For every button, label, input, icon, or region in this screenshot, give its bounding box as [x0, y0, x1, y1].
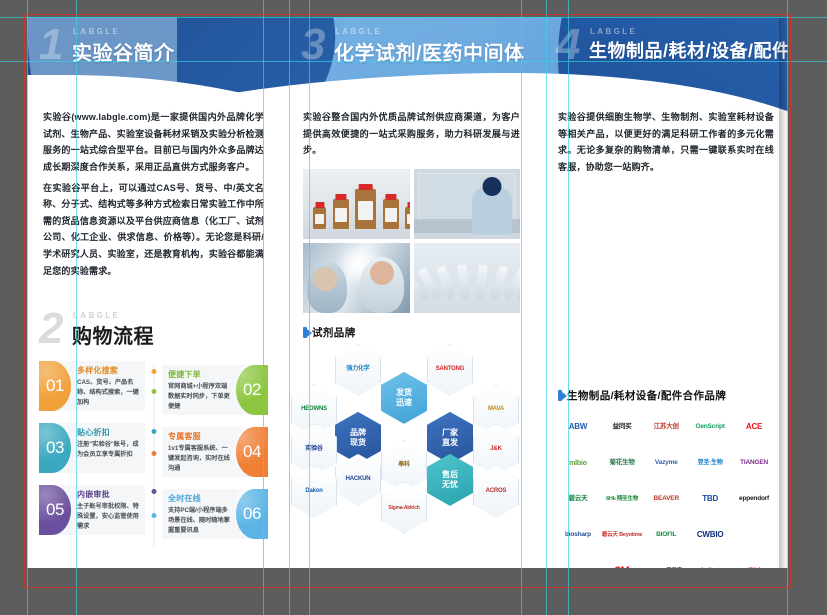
section-2-eyebrow: LABGLE	[73, 311, 120, 320]
section-1-paragraph-1: 实验谷(www.labgle.com)是一家提供国内外品牌化学试剂、生物产品、实…	[43, 109, 264, 176]
reagent-brand-hex-cluster: 强力化学 SANTONG HEOWNS 发货 迅速 MAVA 品牌 现货 厂家 …	[299, 344, 524, 519]
bio-brand-heading: 生物制品/耗材设备/配件合作品牌	[558, 388, 774, 403]
partner-logo: 翌圣·生物	[690, 453, 730, 475]
flow-step-card[interactable]: 06 全时在线 支持PC端/小程序端多场景在线、随时随地掌握重要讯息	[162, 489, 268, 539]
reagent-brand-heading: 试剂品牌	[303, 325, 520, 340]
partner-logo: eppendorf	[734, 489, 774, 511]
partner-logo: biosharp	[558, 525, 598, 547]
bio-partner-logo-grid: ABW 益同买 江苏大创 GenScript ACE mlbio 菊花生物 Va…	[558, 417, 774, 568]
fume-hood-photo	[414, 169, 521, 239]
section-3-paragraph: 实验谷整合国内外优质品牌试剂供应商渠道，为客户提供高效便捷的一站式采购服务，助力…	[303, 109, 520, 159]
partner-logo: Vazyme	[646, 453, 686, 475]
hex-value: 发货 迅速	[381, 372, 427, 424]
section-1-eyebrow: LABGLE	[73, 27, 120, 36]
partner-logo: 碧云天 Beyotime	[602, 525, 642, 547]
flow-dot	[151, 429, 156, 434]
partner-logo	[734, 525, 774, 547]
flow-step-title: 专属客服	[168, 431, 231, 442]
flow-step-desc: 支持PC端/小程序端多场景在线、随时随地掌握重要讯息	[168, 506, 231, 535]
flow-step-card[interactable]: 03 贴心折扣 注册"实验谷"账号，成为会员立享专属折扣	[39, 423, 145, 473]
section-3-heading: 3 LABGLE 化学试剂/医药中间体	[289, 17, 534, 75]
flow-dot	[151, 389, 156, 394]
flow-step-card[interactable]: 05 内嵌审批 主子账号审批权限、特殊设置，安心监管使用需求	[39, 485, 145, 535]
flow-step-number: 06	[236, 489, 268, 539]
hex-brand-logo: ACROS	[473, 466, 519, 518]
section-1-number: 1	[39, 23, 61, 67]
flow-step-desc: 官网商城+小程序双端数据实时同步，下单更便捷	[168, 382, 231, 411]
section-3-body: 实验谷整合国内外优质品牌试剂供应商渠道，为客户提供高效便捷的一站式采购服务，助力…	[289, 109, 534, 159]
flow-step-number: 01	[39, 361, 71, 411]
partner-logo: BEAVER	[646, 489, 686, 511]
partner-logo: TBD	[690, 489, 730, 511]
flow-step-card[interactable]: 02 便捷下单 官网商城+小程序双端数据实时同步，下单更便捷	[162, 365, 268, 415]
flow-step-card[interactable]: 04 专属客服 1v1专属客服系统、一键发起咨询，实时在线沟通	[162, 427, 268, 477]
bio-brand-title: 生物制品/耗材设备/配件合作品牌	[567, 388, 726, 403]
lab-staff-photo	[303, 243, 410, 313]
flow-dot	[151, 451, 156, 456]
flow-step-title: 多样化搜索	[77, 365, 140, 376]
flow-dot	[151, 513, 156, 518]
flow-dot	[151, 489, 156, 494]
partner-logo: 3M	[602, 561, 642, 568]
reagent-bottles-photo	[303, 169, 410, 239]
flow-step-number: 02	[236, 365, 268, 415]
partner-logo: TIANGEN	[734, 453, 774, 475]
pipette-tips-photo	[414, 243, 521, 313]
partner-logo: i.Quip 爱贝克	[646, 561, 686, 568]
section-2-title: 购物流程	[72, 320, 154, 349]
partner-logo: 菊花生物	[602, 453, 642, 475]
hex-brand-logo: SANTONG	[427, 344, 473, 396]
partner-logo: 益同买	[602, 417, 642, 439]
hex-value: 售后 无忧	[427, 454, 473, 506]
section-4-number: 4	[556, 23, 578, 67]
flow-step-card[interactable]: 01 多样化搜索 CAS、货号、产品名称、结构式搜索，一键加构	[39, 361, 145, 411]
section-4-heading: 4 LABGLE 生物制品/耗材/设备/配件	[544, 17, 788, 75]
section-1-heading: 1 LABGLE 实验谷简介	[27, 17, 280, 75]
partner-logo: 6Hk 翔圣生物	[602, 489, 642, 511]
section-2-number: 2	[39, 307, 61, 351]
partner-logo: ABW	[558, 417, 598, 439]
flow-step-desc: 1v1专属客服系统、一键发起咨询，实时在线沟通	[168, 444, 231, 473]
hex-brand-logo: HACKUN	[335, 454, 381, 506]
partner-logo: 碧云天	[558, 489, 598, 511]
section-1-body: 实验谷(www.labgle.com)是一家提供国内外品牌化学试剂、生物产品、实…	[27, 109, 280, 279]
flow-step-number: 04	[236, 427, 268, 477]
partner-logo: mlbio	[558, 453, 598, 475]
section-3-number: 3	[301, 23, 323, 67]
partner-logo: 江苏大创	[646, 417, 686, 439]
partner-logo: CWBIO	[690, 525, 730, 547]
reagent-photo-grid	[303, 169, 520, 313]
section-4-title: 生物制品/耗材/设备/配件	[589, 37, 788, 63]
page-edge-shadow	[779, 17, 788, 568]
section-2-heading: 2 LABGLE 购物流程	[27, 307, 280, 357]
section-4-paragraph: 实验谷提供细胞生物学、生物制剂、实验室耗材设备等相关产品，以便更好的满足科研工作…	[558, 109, 774, 176]
hex-brand-logo: Sigma-Aldrich	[381, 482, 427, 534]
flow-step-title: 贴心折扣	[77, 427, 140, 438]
partner-logo: Agilent	[690, 561, 730, 568]
flow-step-number: 03	[39, 423, 71, 473]
section-1-title: 实验谷简介	[72, 37, 175, 66]
reagent-brand-title: 试剂品牌	[312, 325, 356, 340]
flow-step-title: 便捷下单	[168, 369, 231, 380]
section-4-eyebrow: LABGLE	[590, 27, 637, 36]
partner-logo: ACE	[734, 417, 774, 439]
column-one: 1 LABGLE 实验谷简介 实验谷(www.labgle.com)是一家提供国…	[27, 17, 280, 568]
hex-brand-logo: 强力化学	[335, 344, 381, 396]
flow-dot	[151, 369, 156, 374]
column-three: 4 LABGLE 生物制品/耗材/设备/配件 实验谷提供细胞生物学、生物制剂、实…	[544, 17, 788, 568]
arrow-marker-icon	[558, 390, 562, 401]
partner-logo: GenScript	[690, 417, 730, 439]
flow-step-desc: 注册"实验谷"账号，成为会员立享专属折扣	[77, 440, 140, 459]
artboard-page: 1 LABGLE 实验谷简介 实验谷(www.labgle.com)是一家提供国…	[27, 17, 788, 568]
column-two: 3 LABGLE 化学试剂/医药中间体 实验谷整合国内外优质品牌试剂供应商渠道，…	[289, 17, 534, 568]
flow-step-title: 内嵌审批	[77, 489, 140, 500]
purchase-flow: 01 多样化搜索 CAS、货号、产品名称、结构式搜索，一键加构 02 便捷下单 …	[27, 361, 280, 551]
partner-logo: BIOFIL	[646, 525, 686, 547]
flow-step-desc: CAS、货号、产品名称、结构式搜索，一键加构	[77, 378, 140, 407]
partner-logo: RY	[734, 561, 774, 568]
partner-logo: Biomax Life	[558, 561, 598, 568]
section-1-paragraph-2: 在实验谷平台上，可以通过CAS号、货号、中/英文名称、分子式、结构式等多种方式检…	[43, 180, 264, 280]
design-workspace: 1 LABGLE 实验谷简介 实验谷(www.labgle.com)是一家提供国…	[0, 0, 827, 615]
hex-brand-logo: Dakon	[291, 466, 337, 518]
arrow-marker-icon	[303, 327, 307, 338]
flow-step-number: 05	[39, 485, 71, 535]
section-4-body: 实验谷提供细胞生物学、生物制剂、实验室耗材设备等相关产品，以便更好的满足科研工作…	[544, 109, 788, 176]
flow-step-title: 全时在线	[168, 493, 231, 504]
section-3-title: 化学试剂/医药中间体	[334, 37, 525, 66]
section-3-eyebrow: LABGLE	[335, 27, 382, 36]
flow-step-desc: 主子账号审批权限、特殊设置，安心监管使用需求	[77, 502, 140, 531]
